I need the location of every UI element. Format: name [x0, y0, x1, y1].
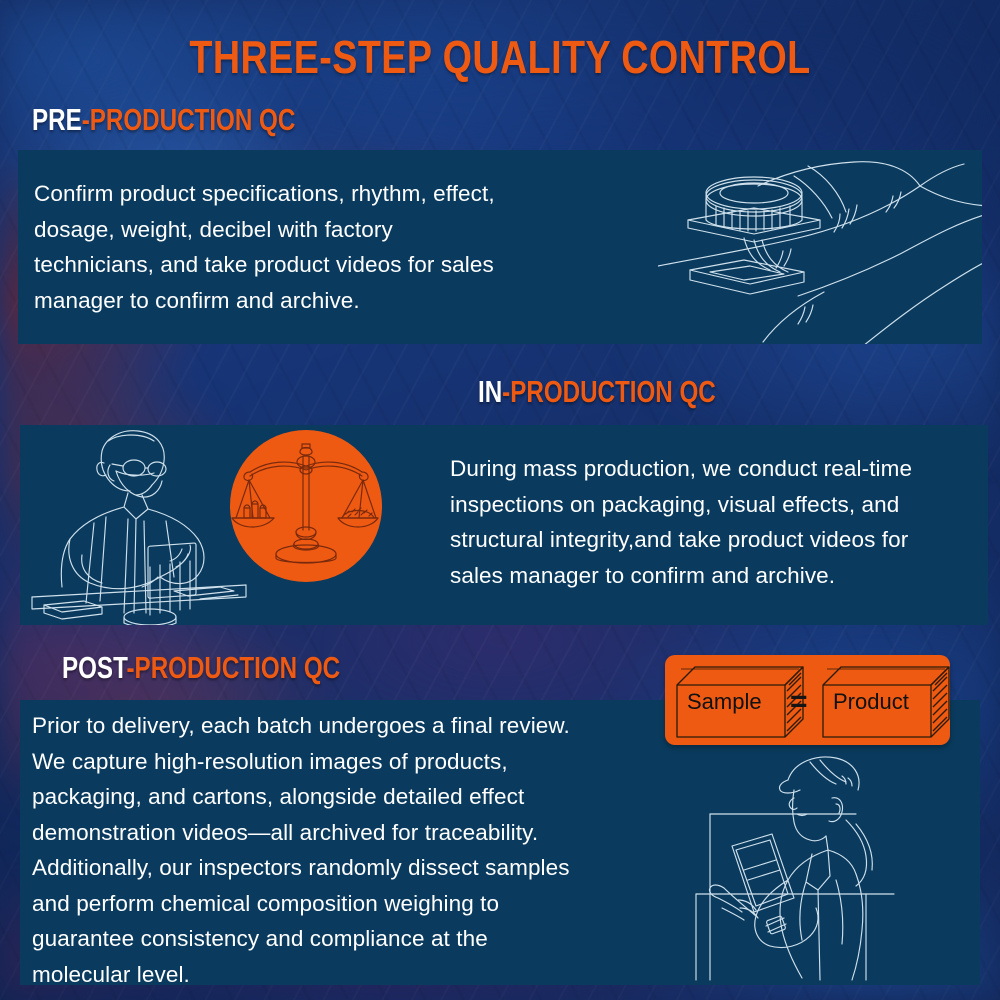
step-heading-pre-production: PRE-PRODUCTION QC — [32, 104, 295, 136]
hand-holding-product-icon — [658, 150, 982, 344]
product-box-label: Product — [833, 691, 909, 713]
step-heading-in-production-orange: -PRODUCTION QC — [502, 374, 716, 409]
step-heading-post-production-orange: -PRODUCTION QC — [127, 650, 341, 685]
panel-pre-production: Confirm product specifications, rhythm, … — [18, 150, 982, 344]
poster-title: THREE-STEP QUALITY CONTROL — [90, 34, 910, 80]
step-heading-pre-production-orange: -PRODUCTION QC — [82, 102, 296, 137]
sample-equals-product-badge: Sample = Product — [665, 655, 950, 745]
panel-post-production-body: Prior to delivery, each batch undergoes … — [32, 708, 692, 985]
inspector-with-clipboard-icon — [660, 750, 980, 985]
step-heading-in-production-white: IN — [478, 374, 502, 409]
sample-box-label: Sample — [687, 691, 762, 713]
panel-in-production: During mass production, we conduct real-… — [20, 425, 988, 625]
step-heading-in-production: IN-PRODUCTION QC — [478, 376, 716, 408]
balance-scale-badge — [230, 430, 382, 582]
technician-inspecting-icon — [24, 427, 254, 625]
equals-sign: = — [790, 687, 808, 717]
infographic-poster: THREE-STEP QUALITY CONTROL PRE-PRODUCTIO… — [0, 0, 1000, 1000]
panel-pre-production-body: Confirm product specifications, rhythm, … — [34, 176, 654, 318]
step-heading-pre-production-white: PRE — [32, 102, 82, 137]
panel-in-production-body: During mass production, we conduct real-… — [450, 451, 988, 593]
step-heading-post-production-white: POST — [62, 650, 127, 685]
step-heading-post-production: POST-PRODUCTION QC — [62, 652, 340, 684]
